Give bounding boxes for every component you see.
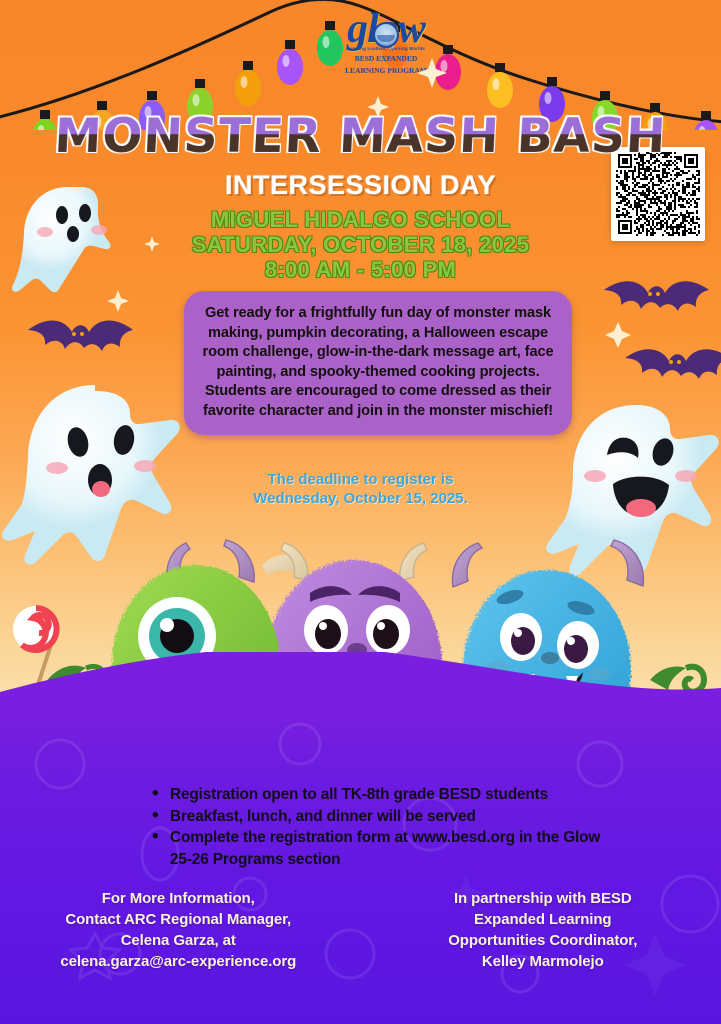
light-socket [195, 79, 205, 88]
bat-right-upper [604, 281, 709, 311]
light-highlight [241, 76, 248, 88]
footer-left-line: Celena Garza, at [0, 930, 357, 951]
light-bulb [487, 72, 513, 108]
footer-right-line: In partnership with BESD [365, 888, 721, 909]
bat-left [28, 320, 133, 351]
deadline-line-1: The deadline to register is [0, 470, 721, 489]
description-box: Get ready for a frightfully fun day of m… [184, 291, 572, 435]
footer-right-line: Kelley Marmolejo [365, 951, 721, 972]
light-highlight [441, 60, 448, 72]
logo-subtitle-2: LEARNING PROGRAM [331, 66, 441, 75]
light-highlight [193, 94, 200, 106]
glow-logo: glow Growing Leaders, Opening Worlds BES… [331, 10, 441, 98]
footer-left-line: celena.garza@arc-experience.org [0, 951, 357, 972]
light-socket [443, 45, 453, 54]
bullet-item: Complete the registration form at www.be… [152, 827, 622, 870]
footer-left-line: For More Information, [0, 888, 357, 909]
light-highlight [323, 36, 330, 48]
description-text: Get ready for a frightfully fun day of m… [198, 304, 558, 421]
light-socket [285, 40, 295, 49]
light-socket [243, 61, 253, 70]
page-subtitle: INTERSESSION DAY [0, 170, 721, 201]
light-socket [147, 91, 157, 100]
light-highlight [283, 55, 290, 67]
event-venue: MIGUEL HIDALGO SCHOOL [0, 207, 721, 232]
bullet-item: Registration open to all TK-8th grade BE… [152, 784, 622, 806]
footer-partnership-right: In partnership with BESDExpanded Learnin… [361, 888, 721, 972]
light-highlight [493, 78, 500, 90]
logo-subtitle-1: BESD EXPANDED [331, 54, 441, 63]
light-socket [547, 77, 557, 86]
poster: glow Growing Leaders, Opening Worlds BES… [0, 0, 721, 1024]
registration-deadline: The deadline to register is Wednesday, O… [0, 470, 721, 508]
footer-contact-left: For More Information,Contact ARC Regiona… [0, 888, 361, 972]
deadline-line-2: Wednesday, October 15, 2025. [0, 489, 721, 508]
bat-right-lower [625, 349, 721, 379]
bullet-list: Registration open to all TK-8th grade BE… [152, 784, 622, 870]
light-bulb [235, 70, 261, 106]
page-title: MONSTER MASH BASH [0, 112, 721, 162]
page-title-text: MONSTER MASH BASH [53, 109, 668, 164]
globe-icon [373, 22, 399, 48]
event-date: SATURDAY, OCTOBER 18, 2025 [0, 232, 721, 257]
footer-right-line: Expanded Learning [365, 909, 721, 930]
event-time: 8:00 AM - 5:00 PM [0, 257, 721, 282]
light-bulb [277, 49, 303, 85]
footer-left-line: Contact ARC Regional Manager, [0, 909, 357, 930]
event-info: MIGUEL HIDALGO SCHOOL SATURDAY, OCTOBER … [0, 207, 721, 282]
bullet-item: Breakfast, lunch, and dinner will be ser… [152, 806, 622, 828]
footer-right-line: Opportunities Coordinator, [365, 930, 721, 951]
light-socket [495, 63, 505, 72]
light-socket [600, 91, 610, 100]
light-highlight [545, 92, 552, 104]
footer: For More Information,Contact ARC Regiona… [0, 888, 721, 972]
